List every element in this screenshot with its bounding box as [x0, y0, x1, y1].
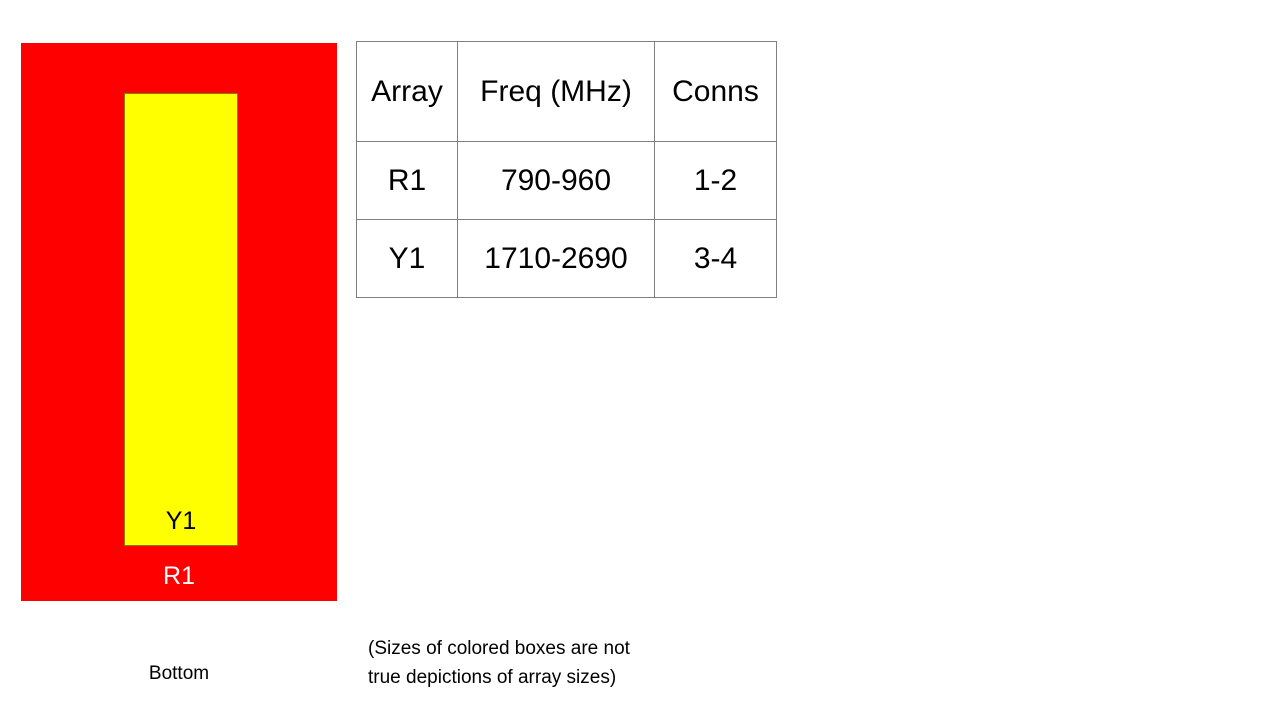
cell-freq-y1: 1710-2690	[458, 220, 655, 298]
array-diagram: Y1 R1	[21, 43, 337, 601]
bottom-orientation-label: Bottom	[21, 661, 337, 687]
cell-freq-r1: 790-960	[458, 142, 655, 220]
cell-conns-r1: 1-2	[655, 142, 777, 220]
footnote-text: (Sizes of colored boxes are not true dep…	[368, 634, 788, 692]
array-spec-table: Array Freq (MHz) Conns R1 790-960 1-2 Y1…	[356, 41, 777, 298]
column-header-array: Array	[357, 42, 458, 142]
column-header-conns: Conns	[655, 42, 777, 142]
array-box-y1-label: Y1	[125, 506, 237, 536]
table-row: Y1 1710-2690 3-4	[357, 220, 777, 298]
table-header-row: Array Freq (MHz) Conns	[357, 42, 777, 142]
column-header-freq: Freq (MHz)	[458, 42, 655, 142]
cell-conns-y1: 3-4	[655, 220, 777, 298]
cell-array-y1: Y1	[357, 220, 458, 298]
cell-array-r1: R1	[357, 142, 458, 220]
array-box-r1-label: R1	[21, 561, 337, 591]
table-row: R1 790-960 1-2	[357, 142, 777, 220]
array-box-y1: Y1	[124, 93, 238, 546]
array-box-r1: Y1 R1	[21, 43, 337, 601]
